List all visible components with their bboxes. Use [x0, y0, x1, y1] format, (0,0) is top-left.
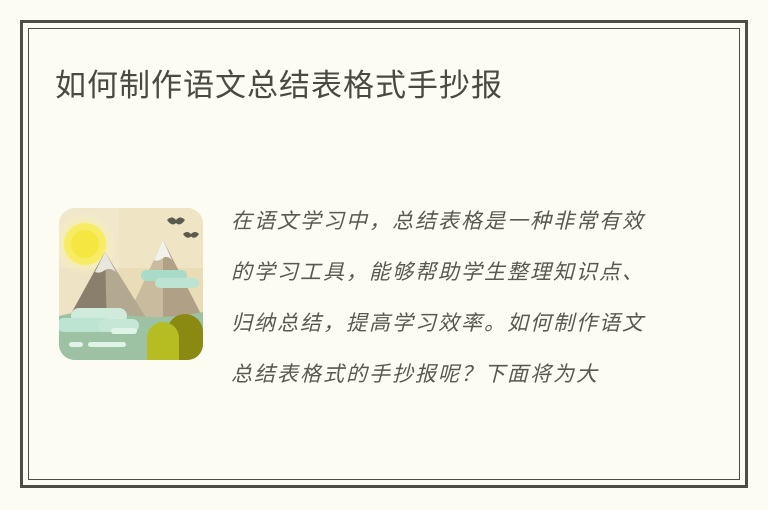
article-body: 在语文学习中，总结表格是一种非常有效的学习工具，能够帮助学生整理知识点、归纳总结…: [231, 196, 655, 452]
article-card: 如何制作语文总结表格式手抄报: [0, 0, 768, 510]
article-thumbnail: [55, 200, 207, 368]
page-title: 如何制作语文总结表格式手抄报: [55, 64, 503, 108]
article-content: 在语文学习中，总结表格是一种非常有效的学习工具，能够帮助学生整理知识点、归纳总结…: [55, 196, 655, 456]
mountain-landscape-icon: [55, 200, 207, 368]
